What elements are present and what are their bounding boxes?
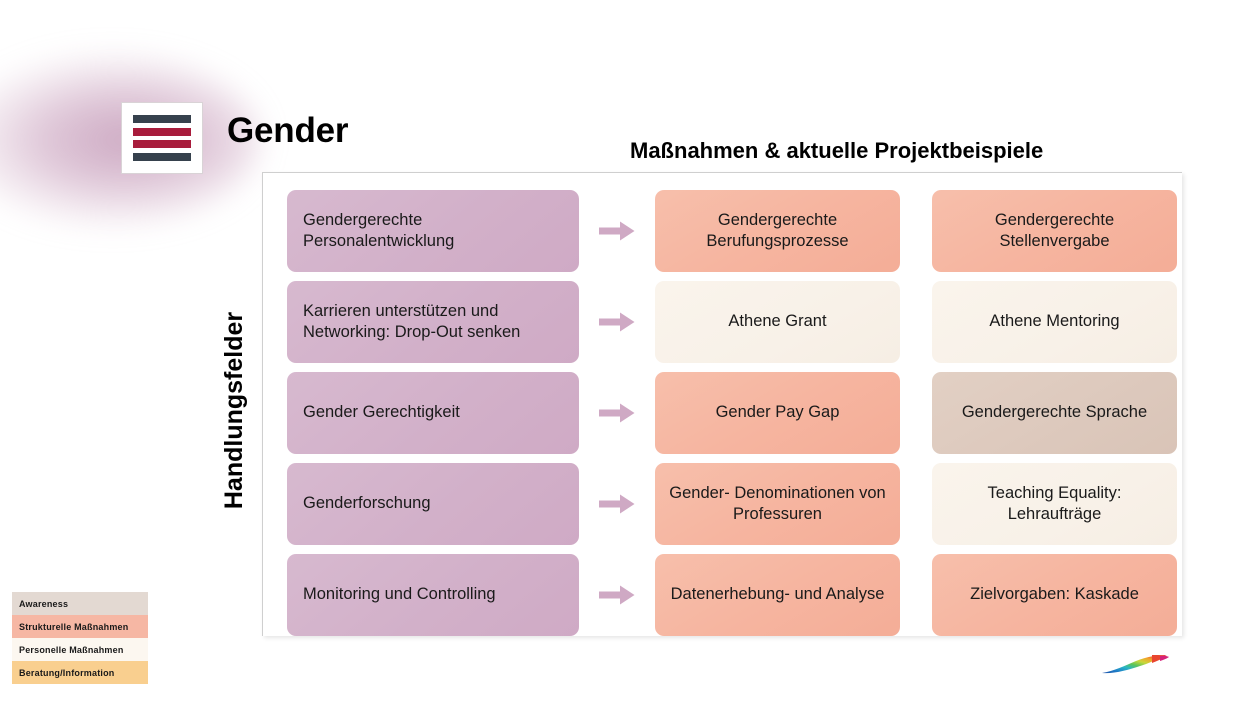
measure-box[interactable]: Teaching Equality: Lehraufträge (932, 463, 1177, 545)
field-box[interactable]: Genderforschung (287, 463, 579, 545)
matrix-row: Karrieren unterstützen und Networking: D… (287, 281, 1182, 363)
axis-label: Handlungsfelder (205, 260, 265, 560)
field-box[interactable]: Karrieren unterstützen und Networking: D… (287, 281, 579, 363)
logo-bar-4 (133, 153, 191, 161)
measure-box[interactable]: Athene Mentoring (932, 281, 1177, 363)
column-gap (900, 281, 932, 363)
measure-box[interactable]: Zielvorgaben: Kaskade (932, 554, 1177, 636)
section-heading: Maßnahmen & aktuelle Projektbeispiele (630, 138, 1043, 164)
legend-item: Beratung/Information (12, 661, 148, 684)
legend-item: Personelle Maßnahmen (12, 638, 148, 661)
arrow-right-icon (579, 190, 655, 272)
rainbow-swoosh-icon (1100, 652, 1172, 678)
matrix-row: Gendergerechte Personalentwicklung Gende… (287, 190, 1182, 272)
matrix-row: Monitoring und Controlling Datenerhebung… (287, 554, 1182, 636)
measure-box[interactable]: Gendergerechte Berufungsprozesse (655, 190, 900, 272)
four-bar-logo-icon (121, 102, 203, 174)
measure-box[interactable]: Gendergerechte Stellenvergabe (932, 190, 1177, 272)
arrow-right-icon (579, 554, 655, 636)
column-gap (900, 190, 932, 272)
field-box[interactable]: Monitoring und Controlling (287, 554, 579, 636)
logo-bar-2 (133, 128, 191, 136)
legend-item: Awareness (12, 592, 148, 615)
measure-box[interactable]: Gender- Denominationen von Professuren (655, 463, 900, 545)
arrow-right-icon (579, 463, 655, 545)
arrow-right-icon (579, 281, 655, 363)
measure-box[interactable]: Athene Grant (655, 281, 900, 363)
measure-box[interactable]: Gendergerechte Sprache (932, 372, 1177, 454)
logo-bars (132, 112, 192, 164)
measure-box[interactable]: Gender Pay Gap (655, 372, 900, 454)
legend-item: Strukturelle Maßnahmen (12, 615, 148, 638)
column-gap (900, 372, 932, 454)
column-gap (900, 554, 932, 636)
legend: Awareness Strukturelle Maßnahmen Persone… (12, 592, 148, 684)
field-box[interactable]: Gendergerechte Personalentwicklung (287, 190, 579, 272)
brand-title: Gender (227, 111, 348, 151)
matrix-grid: Gendergerechte Personalentwicklung Gende… (287, 190, 1182, 636)
logo-bar-1 (133, 115, 191, 123)
measure-box[interactable]: Datenerhebung- und Analyse (655, 554, 900, 636)
logo-bar-3 (133, 140, 191, 148)
matrix-row: Gender Gerechtigkeit Gender Pay Gap Gend… (287, 372, 1182, 454)
field-box[interactable]: Gender Gerechtigkeit (287, 372, 579, 454)
matrix-row: Genderforschung Gender- Denominationen v… (287, 463, 1182, 545)
column-gap (900, 463, 932, 545)
arrow-right-icon (579, 372, 655, 454)
axis-label-text: Handlungsfelder (221, 311, 250, 508)
